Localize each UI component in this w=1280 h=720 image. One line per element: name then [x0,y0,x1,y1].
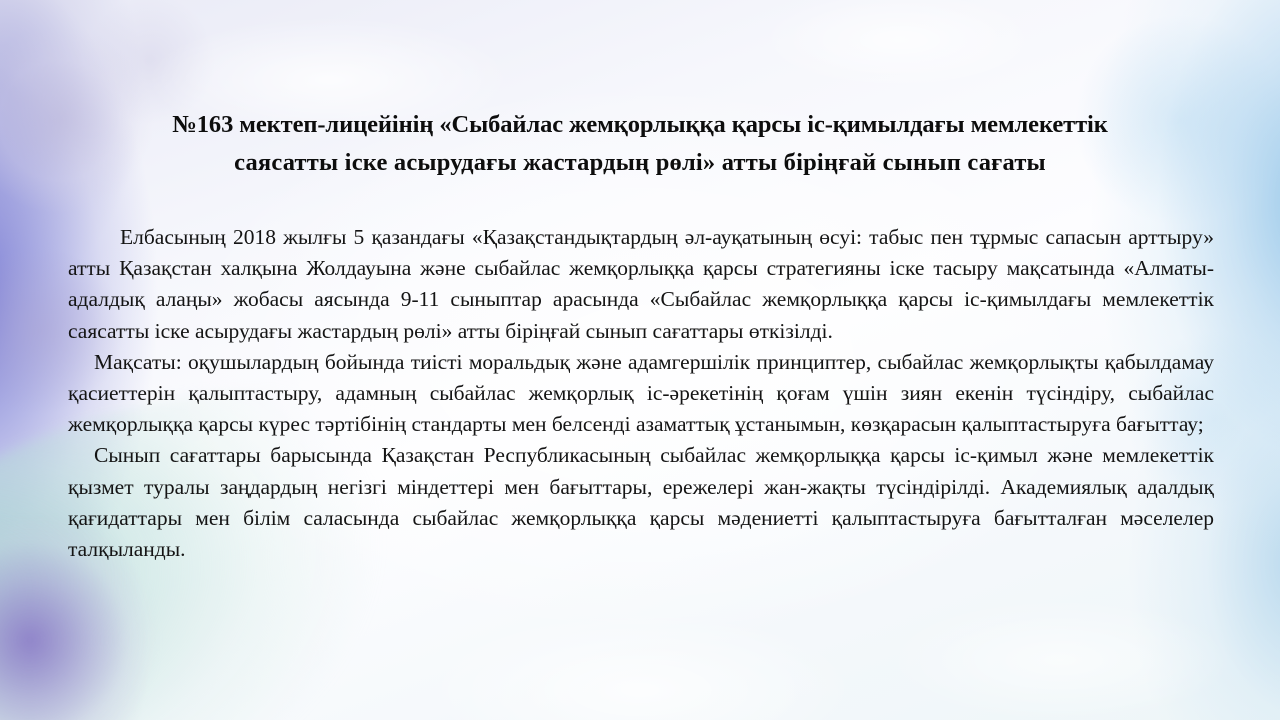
body-paragraph-1: Елбасының 2018 жылғы 5 қазандағы «Қазақс… [68,222,1214,347]
slide-title: №163 мектеп-лицейінің «Сыбайлас жемқорлы… [108,106,1172,182]
body-paragraph-2: Мақсаты: оқушылардың бойында тиісті мора… [68,347,1214,441]
slide-title-line-1: №163 мектеп-лицейінің «Сыбайлас жемқорлы… [108,106,1172,144]
presentation-slide: №163 мектеп-лицейінің «Сыбайлас жемқорлы… [0,0,1280,720]
slide-body-text: Елбасының 2018 жылғы 5 қазандағы «Қазақс… [68,222,1214,565]
body-paragraph-3: Сынып сағаттары барысында Қазақстан Респ… [68,440,1214,565]
slide-content: №163 мектеп-лицейінің «Сыбайлас жемқорлы… [0,0,1280,720]
slide-title-line-2: саясатты іске асырудағы жастардың рөлі» … [108,144,1172,182]
